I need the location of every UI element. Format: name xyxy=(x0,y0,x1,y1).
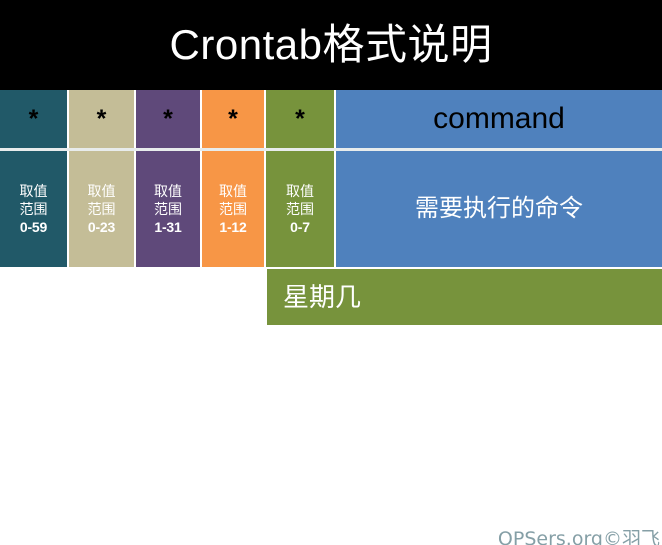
range-cell-month: 取值 范围 1-12 xyxy=(202,151,264,267)
range-label-line1: 取值 xyxy=(88,183,116,201)
command-header-label: command xyxy=(433,104,565,134)
range-value: 0-59 xyxy=(20,219,47,237)
range-cell-minute: 取值 范围 0-59 xyxy=(0,151,67,267)
star-cell-day-of-month: * xyxy=(136,90,200,148)
band-label-day-of-month: 几号 xyxy=(151,400,203,426)
range-label-line2: 范围 xyxy=(286,201,314,219)
range-value: 1-31 xyxy=(154,219,181,237)
range-label-line2: 范围 xyxy=(219,201,247,219)
range-label-line2: 范围 xyxy=(154,201,182,219)
band-day-of-week: 星期几 xyxy=(267,269,662,325)
watermark-text: OPSers.org©羽飞 xyxy=(498,530,660,545)
command-description-label: 需要执行的命令 xyxy=(415,197,583,221)
command-header-cell: command xyxy=(336,90,662,148)
range-cell-hour: 取值 范围 0-23 xyxy=(69,151,134,267)
asterisk-glyph-icon: * xyxy=(295,107,305,132)
star-cell-hour: * xyxy=(69,90,134,148)
range-label-line1: 取值 xyxy=(286,183,314,201)
range-label-line2: 范围 xyxy=(20,201,48,219)
page-title: Crontab格式说明 xyxy=(170,24,493,66)
range-cell-day-of-month: 取值 范围 1-31 xyxy=(136,151,200,267)
range-value: 0-23 xyxy=(88,219,115,237)
band-label-hour: 小时 xyxy=(86,450,138,476)
band-label-minute: 分钟 xyxy=(12,507,64,533)
command-description-cell: 需要执行的命令 xyxy=(336,151,662,267)
crontab-format-diagram: Crontab格式说明 * * * * * command 取值 范围 0-59… xyxy=(0,0,662,545)
range-label-line1: 取值 xyxy=(154,183,182,201)
star-cell-month: * xyxy=(202,90,264,148)
range-label-line2: 范围 xyxy=(88,201,116,219)
band-label-day-of-week: 星期几 xyxy=(283,284,361,310)
band-label-month: 月份 xyxy=(218,346,270,372)
range-label-line1: 取值 xyxy=(20,183,48,201)
range-label-line1: 取值 xyxy=(219,183,247,201)
asterisk-glyph-icon: * xyxy=(163,107,173,132)
asterisk-glyph-icon: * xyxy=(97,107,107,132)
range-value: 0-7 xyxy=(290,219,310,237)
asterisk-glyph-icon: * xyxy=(29,107,39,132)
asterisk-glyph-icon: * xyxy=(228,107,238,132)
range-value: 1-12 xyxy=(219,219,246,237)
star-cell-day-of-week: * xyxy=(266,90,334,148)
star-cell-minute: * xyxy=(0,90,67,148)
diagram-title-bar: Crontab格式说明 xyxy=(0,0,662,90)
range-cell-day-of-week: 取值 范围 0-7 xyxy=(266,151,334,267)
